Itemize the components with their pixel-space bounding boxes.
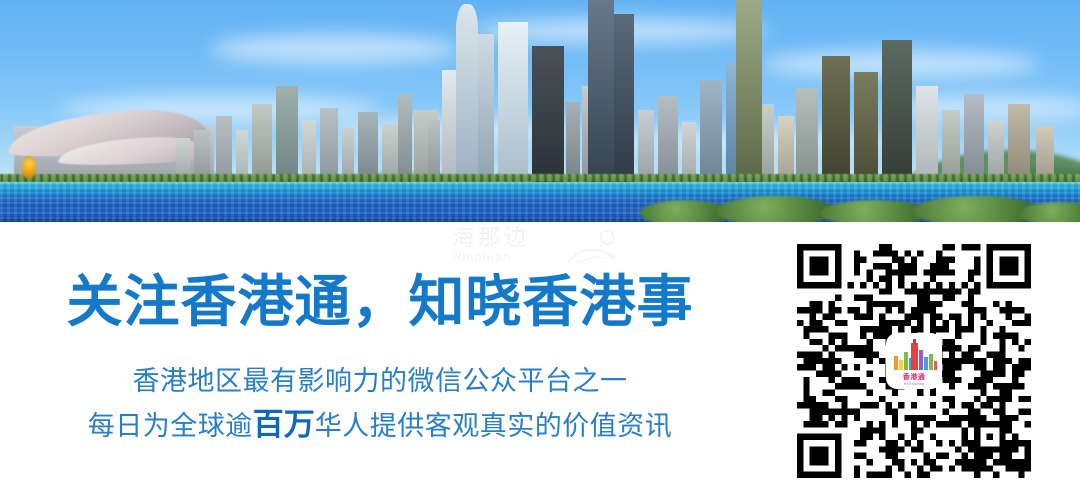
skyline-building (498, 22, 528, 182)
skyline-building (964, 94, 984, 182)
harbour-skyline-banner (0, 0, 1080, 222)
qr-center-logo: 香港通 HKKnowing (888, 335, 940, 387)
skyline-building (658, 96, 678, 182)
skyline-building (320, 108, 338, 182)
subtitle-emphasis-million: 百万 (253, 407, 315, 443)
skyline-building (882, 40, 912, 182)
waterfront-greenery-strip (0, 174, 1080, 182)
skyline-building (276, 86, 298, 182)
skyline-building (822, 56, 850, 182)
skyline-building (302, 120, 316, 182)
qr-code-block[interactable]: 香港通 HKKnowing (797, 244, 1031, 478)
subtitle-line-2-prefix: 每日为全球逾 (88, 411, 253, 442)
qr-logo-title: 香港通 (888, 373, 940, 381)
skyline-building (532, 46, 564, 182)
subtitle-line-2-suffix: 华人提供客观真实的价值资讯 (315, 411, 673, 442)
skyline-building (1008, 104, 1030, 182)
skyline-building (988, 120, 1004, 182)
skyline-building (358, 112, 378, 182)
landmark-tower-central-plaza (736, 0, 762, 182)
skyline-building (428, 120, 440, 182)
skyline-building (638, 110, 654, 182)
skyline-building (252, 104, 272, 182)
skyline-building (854, 72, 878, 182)
qr-logo-subtitle: HKKnowing (888, 382, 940, 386)
skyline-building (682, 122, 696, 182)
skyline-building (700, 80, 722, 182)
subtitle-line-1: 香港地区最有影响力的微信公众平台之一 (0, 366, 760, 398)
skyline-building (778, 116, 794, 182)
hongkong-skyline-icon (888, 339, 940, 371)
wechat-promo-poster: 海那边 Hinabian 关注香港通，知晓香港事 香港地区最有影响力的微信公众平… (0, 0, 1080, 503)
foreground-tree (716, 196, 836, 222)
skyline-building (942, 110, 960, 182)
skyline-building (216, 116, 232, 182)
landmark-tower-ifc2 (456, 4, 478, 182)
skyline-buildings-layer (0, 0, 1080, 182)
golden-bauhinia-statue (22, 156, 36, 178)
page-title: 关注香港通，知晓香港事 (0, 272, 760, 334)
subtitle-line-2: 每日为全球逾百万华人提供客观真实的价值资讯 (0, 409, 760, 443)
skyline-building (398, 94, 412, 182)
skyline-building (916, 86, 938, 182)
landmark-tower-bank-of-china (588, 0, 614, 182)
skyline-building (566, 102, 580, 182)
skyline-building (796, 88, 818, 182)
